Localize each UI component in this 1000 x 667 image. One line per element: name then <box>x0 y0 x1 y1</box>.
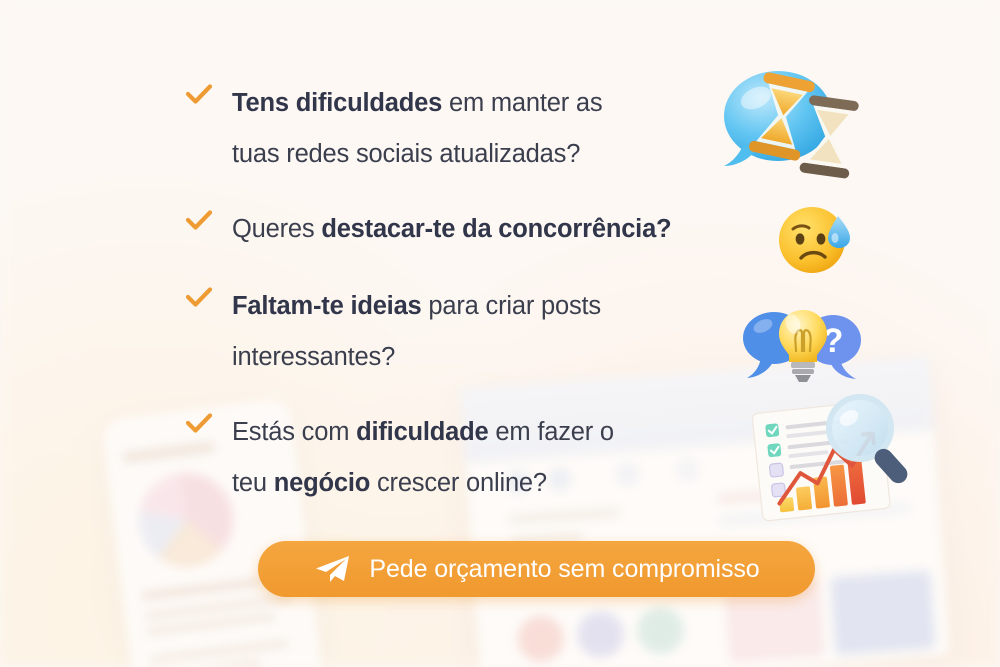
checklist-item-4-tail: crescer online? <box>370 469 547 497</box>
background-circle <box>636 606 685 655</box>
checklist-item-1-text: Tens dificuldades em manter as tuas rede… <box>232 78 602 180</box>
sad-sweat-face-icon <box>777 202 851 276</box>
checklist-item-2-bold: destacar-te da concorrência? <box>321 215 671 243</box>
check-icon <box>186 412 212 442</box>
background-phone-line <box>142 578 262 600</box>
background-circle <box>576 610 625 659</box>
checklist: Tens dificuldades em manter as tuas rede… <box>186 78 746 533</box>
chart-report-magnifier-icon <box>744 388 916 536</box>
checklist-item-3: Faltam-te ideias para criar posts intere… <box>186 281 746 383</box>
checklist-item-1: Tens dificuldades em manter as tuas rede… <box>186 78 746 180</box>
send-plane-icon <box>313 554 351 584</box>
background-page-thumb <box>830 570 935 655</box>
checklist-item-3-text: Faltam-te ideias para criar posts intere… <box>232 281 601 383</box>
request-quote-label: Pede orçamento sem compromisso <box>369 555 759 584</box>
check-icon <box>186 83 212 113</box>
checklist-item-4: Estás com dificuldade em fazer o teu neg… <box>186 407 746 509</box>
request-quote-button[interactable]: Pede orçamento sem compromisso <box>258 541 815 597</box>
background-circle <box>516 614 565 663</box>
checklist-item-4-bold2: negócio <box>274 469 370 497</box>
checklist-item-2: Queres destacar-te da concorrência? <box>186 204 746 255</box>
lightbulb-question-bubbles-icon: ? <box>739 302 861 384</box>
checklist-item-4-lead: Estás com <box>232 418 356 446</box>
checklist-item-1-bold: Tens dificuldades <box>232 89 442 117</box>
hourglass-speech-bubble-icon <box>716 58 866 186</box>
checklist-item-4-bold: dificuldade <box>356 418 488 446</box>
check-icon <box>186 209 212 239</box>
checklist-item-2-text: Queres destacar-te da concorrência? <box>232 204 671 255</box>
checklist-item-3-bold: Faltam-te ideias <box>232 292 422 320</box>
background-phone-line <box>150 639 290 663</box>
checklist-item-2-lead: Queres <box>232 215 321 243</box>
promo-poster: Tens dificuldades em manter as tuas rede… <box>0 0 1000 667</box>
check-icon <box>186 286 212 316</box>
checklist-item-4-text: Estás com dificuldade em fazer o teu neg… <box>232 407 614 509</box>
